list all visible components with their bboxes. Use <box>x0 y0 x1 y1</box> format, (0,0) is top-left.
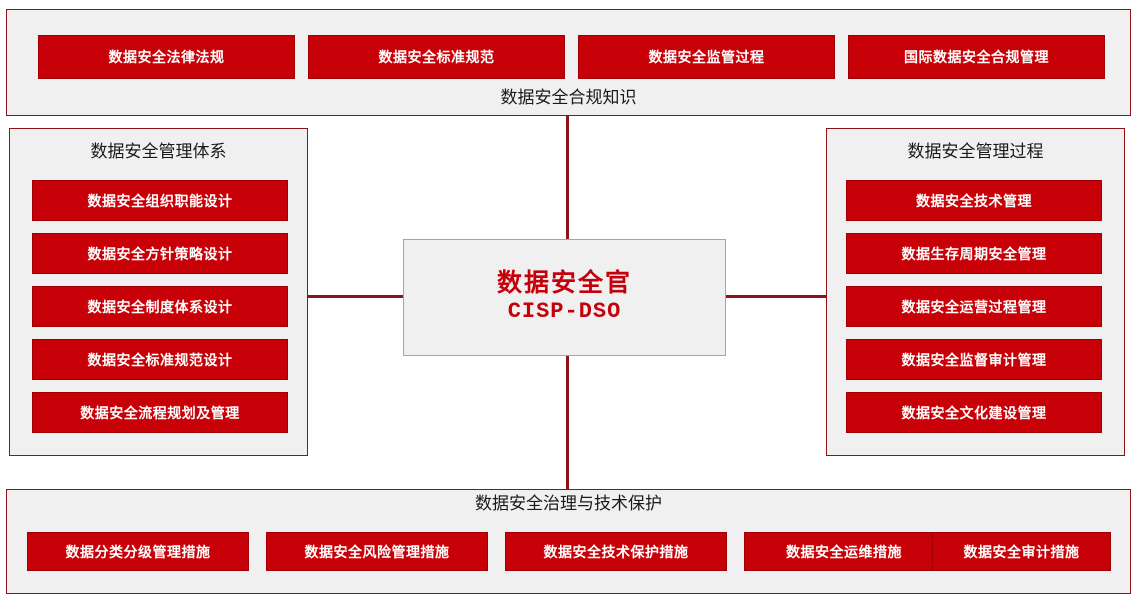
topic-box-label: 数据安全监督审计管理 <box>902 353 1047 367</box>
topic-box-label: 数据安全监管过程 <box>649 50 765 64</box>
connector-center-to-bottom <box>566 355 569 490</box>
topic-box-right-3[interactable]: 数据安全运营过程管理 <box>846 286 1102 327</box>
section-title-bottom: 数据安全治理与技术保护 <box>6 495 1131 512</box>
topic-box-label: 数据安全组织职能设计 <box>88 194 233 208</box>
connector-left-to-center <box>307 295 404 298</box>
topic-box-bottom-5[interactable]: 数据安全审计措施 <box>932 532 1111 571</box>
section-title-right: 数据安全管理过程 <box>826 143 1125 160</box>
topic-box-left-4[interactable]: 数据安全标准规范设计 <box>32 339 288 380</box>
topic-box-label: 数据安全审计措施 <box>964 545 1080 559</box>
topic-box-label: 数据安全技术保护措施 <box>544 545 689 559</box>
center-hub-title-en: CISP-DSO <box>508 298 622 326</box>
connector-top-to-center <box>566 116 569 240</box>
topic-box-bottom-4[interactable]: 数据安全运维措施 <box>744 532 944 571</box>
topic-box-label: 数据分类分级管理措施 <box>66 545 211 559</box>
topic-box-left-1[interactable]: 数据安全组织职能设计 <box>32 180 288 221</box>
topic-box-label: 数据安全技术管理 <box>916 194 1032 208</box>
topic-box-left-2[interactable]: 数据安全方针策略设计 <box>32 233 288 274</box>
topic-box-bottom-3[interactable]: 数据安全技术保护措施 <box>505 532 727 571</box>
topic-box-label: 国际数据安全合规管理 <box>904 50 1049 64</box>
center-hub-title-cn: 数据安全官 <box>497 269 632 298</box>
topic-box-bottom-2[interactable]: 数据安全风险管理措施 <box>266 532 488 571</box>
topic-box-left-5[interactable]: 数据安全流程规划及管理 <box>32 392 288 433</box>
topic-box-label: 数据生存周期安全管理 <box>902 247 1047 261</box>
topic-box-left-3[interactable]: 数据安全制度体系设计 <box>32 286 288 327</box>
topic-box-right-1[interactable]: 数据安全技术管理 <box>846 180 1102 221</box>
topic-box-label: 数据安全流程规划及管理 <box>80 406 240 420</box>
section-title-top: 数据安全合规知识 <box>6 89 1131 106</box>
connector-center-to-right <box>725 295 827 298</box>
topic-box-label: 数据安全方针策略设计 <box>88 247 233 261</box>
topic-box-right-4[interactable]: 数据安全监督审计管理 <box>846 339 1102 380</box>
topic-box-top-2[interactable]: 数据安全标准规范 <box>308 35 565 79</box>
diagram-canvas: 数据安全法律法规 数据安全标准规范 数据安全监管过程 国际数据安全合规管理 数据… <box>0 0 1137 607</box>
topic-box-label: 数据安全文化建设管理 <box>902 406 1047 420</box>
topic-box-top-3[interactable]: 数据安全监管过程 <box>578 35 835 79</box>
topic-box-top-1[interactable]: 数据安全法律法规 <box>38 35 295 79</box>
center-hub-box[interactable]: 数据安全官 CISP-DSO <box>403 239 726 356</box>
topic-box-top-4[interactable]: 国际数据安全合规管理 <box>848 35 1105 79</box>
topic-box-label: 数据安全法律法规 <box>109 50 225 64</box>
topic-box-right-2[interactable]: 数据生存周期安全管理 <box>846 233 1102 274</box>
topic-box-label: 数据安全运维措施 <box>786 545 902 559</box>
topic-box-label: 数据安全标准规范 <box>379 50 495 64</box>
topic-box-label: 数据安全运营过程管理 <box>902 300 1047 314</box>
topic-box-right-5[interactable]: 数据安全文化建设管理 <box>846 392 1102 433</box>
topic-box-label: 数据安全制度体系设计 <box>88 300 233 314</box>
topic-box-bottom-1[interactable]: 数据分类分级管理措施 <box>27 532 249 571</box>
topic-box-label: 数据安全风险管理措施 <box>305 545 450 559</box>
section-title-left: 数据安全管理体系 <box>9 143 308 160</box>
topic-box-label: 数据安全标准规范设计 <box>88 353 233 367</box>
